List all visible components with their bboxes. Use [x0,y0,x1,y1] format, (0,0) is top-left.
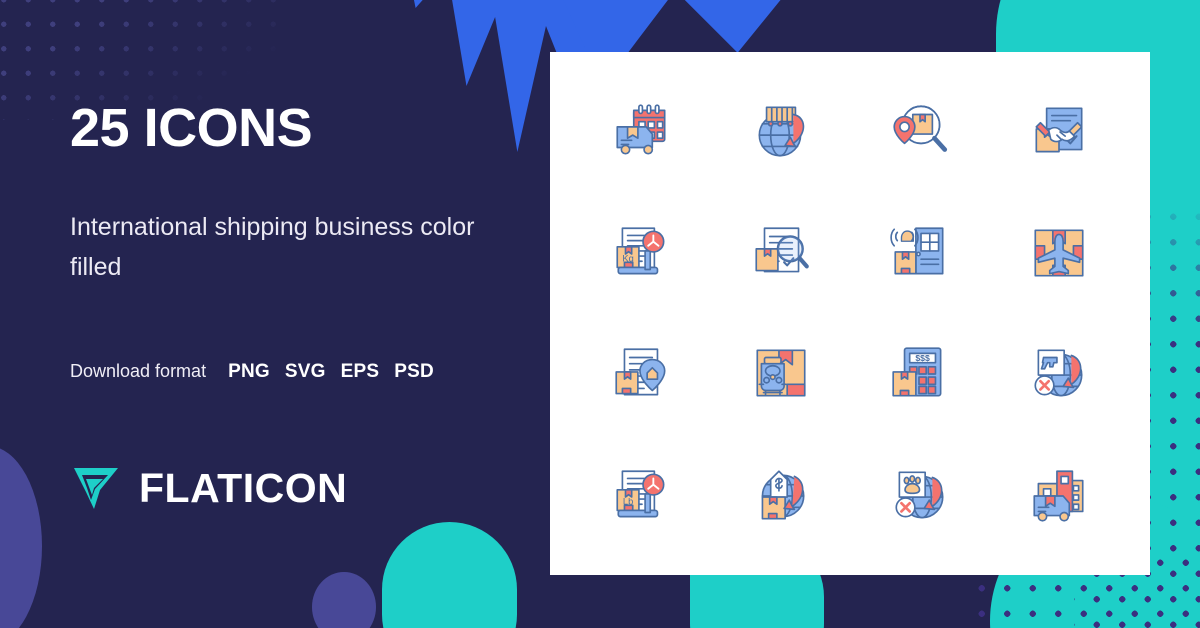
format-chip-list: PNG SVG EPS PSD [228,361,434,383]
icon-package-doorbell-delivery[interactable] [850,192,989,314]
icon-preview-panel: Kg [550,52,1150,575]
icon-air-freight-package[interactable] [989,192,1128,314]
page-title: 25 ICONS [70,101,312,155]
format-chip-svg[interactable]: SVG [285,361,326,383]
download-format-row: Download format PNG SVG EPS PSD [70,361,434,383]
icon-truck-building-delivery[interactable] [989,435,1128,557]
brand-name: FLATICON [139,468,347,509]
purple-circle-left [0,446,42,628]
flaticon-logo-icon [70,462,122,514]
promo-banner: 25 ICONS International shipping business… [0,0,1200,628]
icon-price-tag-globe-package[interactable] [711,435,850,557]
icon-prohibited-weapons-globe[interactable] [989,314,1128,436]
icon-document-package-inspect[interactable] [711,192,850,314]
download-format-label: Download format [70,361,206,382]
icon-prohibited-animals-globe[interactable] [850,435,989,557]
format-chip-psd[interactable]: PSD [394,361,434,383]
icon-train-freight-package[interactable] [711,314,850,436]
format-chip-png[interactable]: PNG [228,361,270,383]
promo-subtitle: International shipping business color fi… [70,208,490,287]
icon-weight-scale-kg[interactable]: Kg [572,192,711,314]
icon-shipping-cost-calculator[interactable]: $$$ [850,314,989,436]
icon-package-search-location[interactable] [850,70,989,192]
promo-text-column: 25 ICONS International shipping business… [70,0,540,628]
svg-text:$$$: $$$ [915,354,930,364]
brand-logo[interactable]: FLATICON [70,462,347,514]
icon-handshake-contract-package[interactable] [989,70,1128,192]
icon-globe-container-arrow[interactable] [711,70,850,192]
svg-text:Kg: Kg [622,253,633,263]
icon-delivery-truck-calendar[interactable] [572,70,711,192]
svg-text:Lb: Lb [622,496,632,506]
icon-package-address-document[interactable] [572,314,711,436]
format-chip-eps[interactable]: EPS [341,361,380,383]
icon-weight-scale-lb[interactable]: Lb [572,435,711,557]
